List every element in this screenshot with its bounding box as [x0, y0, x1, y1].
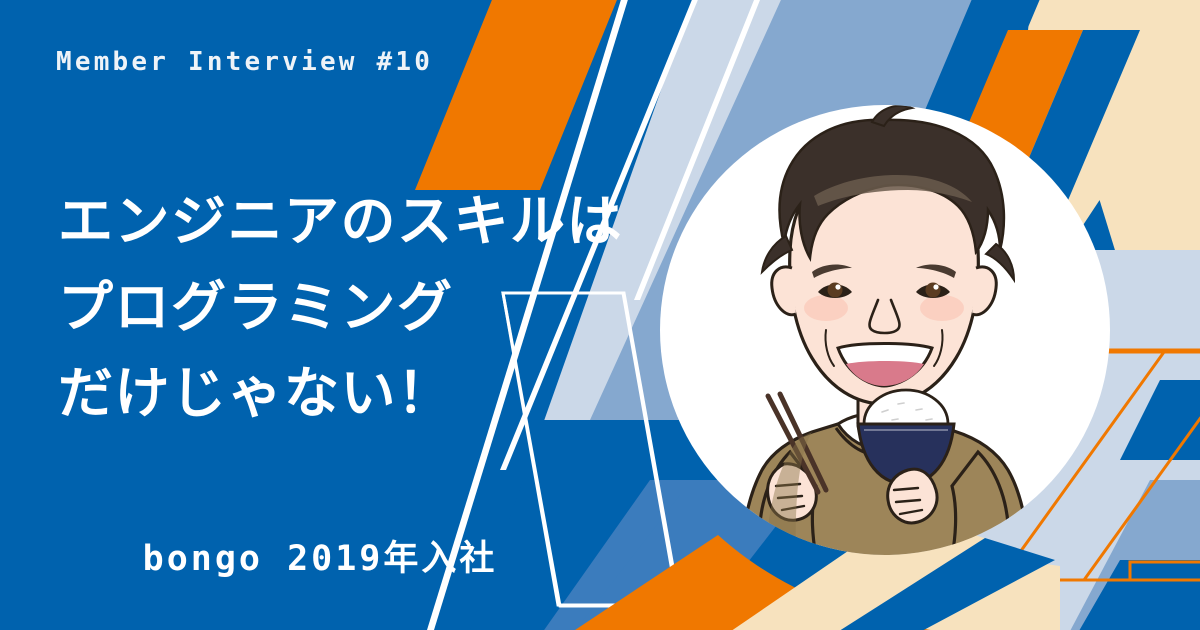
avatar-eye-highlight-right — [933, 284, 938, 289]
headline-line-1: エンジニアのスキルは — [58, 178, 698, 264]
avatar-eye-highlight-left — [835, 284, 840, 289]
banner-canvas: Member Interview #10 エンジニアのスキルは プログラミング … — [0, 0, 1200, 630]
avatar-cheek-left — [804, 295, 848, 321]
avatar-pupil-right — [926, 283, 941, 298]
eyebrow-label: Member Interview #10 — [56, 47, 433, 77]
page-title: エンジニアのスキルは プログラミング だけじゃない！ — [58, 178, 698, 436]
avatar-pupil-left — [828, 283, 843, 298]
avatar-hand-right — [888, 469, 937, 523]
avatar-cheek-right — [920, 295, 964, 321]
headline-line-2: プログラミング — [58, 264, 698, 350]
headline-line-3: だけじゃない！ — [58, 350, 698, 436]
byline: bongo 2019年入社 — [0, 530, 640, 581]
